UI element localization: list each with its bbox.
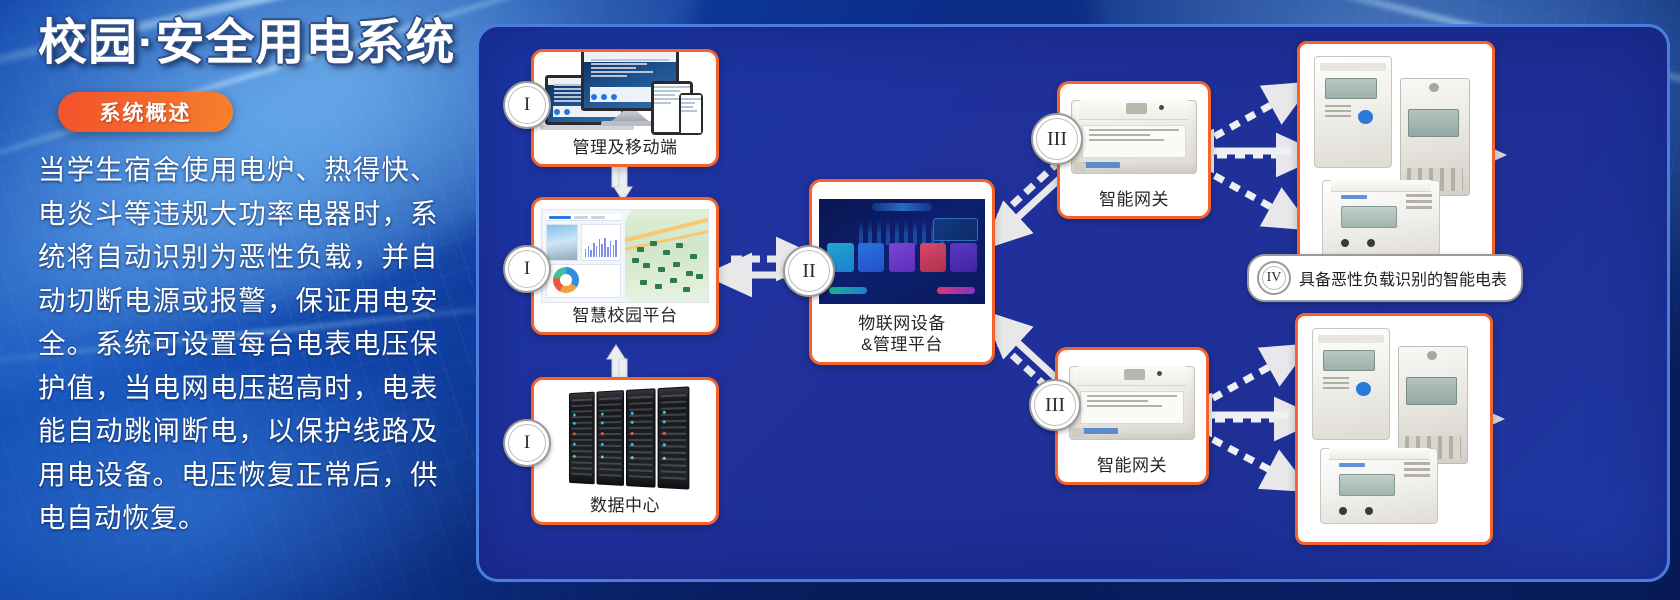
section-badge-label: 系统概述 [100,97,192,127]
diagram-frame: 管理及移动端 I [476,24,1670,582]
smart-meter-group-bottom [1298,316,1490,542]
campus-platform-dashboard-illustration [534,200,716,305]
iot-platform-dashboard-illustration [812,182,992,313]
node-campus-platform[interactable]: 智慧校园平台 [531,197,719,335]
node-admin-mobile[interactable]: 管理及移动端 [531,49,719,167]
meter-din-rail-top [1322,180,1440,256]
node-iot-platform-label-line1: 物联网设备 [812,313,992,334]
left-text-panel: 校园·安全用电系统 系统概述 当学生宿舍使用电炉、热得快、电炎斗等违规大功率电器… [0,0,470,600]
node-gateway-top-label: 智能网关 [1060,189,1208,216]
diagram-canvas: 管理及移动端 I [479,27,1667,579]
numeral-badge-data-center: I [503,419,551,467]
page-title: 校园·安全用电系统 [38,18,458,69]
meter-single-phase-top [1314,56,1392,168]
node-admin-mobile-label: 管理及移动端 [534,137,716,164]
numeral-badge-iot-platform: II [783,245,835,297]
poster-root: 校园·安全用电系统 系统概述 当学生宿舍使用电炉、热得快、电炎斗等违规大功率电器… [0,0,1680,600]
node-data-center-label: 数据中心 [534,495,716,522]
node-iot-platform-label-line2: &管理平台 [812,334,992,362]
numeral-badge-admin-mobile: I [503,81,551,129]
numeral-badge-gateway-bottom: III [1029,379,1081,431]
numeral-badge-gateway-top: III [1031,113,1083,165]
section-badge: 系统概述 [58,92,233,132]
callout-smart-meter: IV 具备恶性负载识别的智能电表 [1247,254,1523,302]
meter-three-phase-bottom [1398,346,1468,464]
overview-paragraph: 当学生宿舍使用电炉、热得快、电炎斗等违规大功率电器时，系统将自动识别为恶性负载，… [38,148,438,540]
callout-smart-meter-label: 具备恶性负载识别的智能电表 [1299,266,1507,290]
meter-single-phase-bottom [1312,328,1390,440]
numeral-badge-callout: IV [1257,261,1291,295]
meter-din-rail-bottom [1320,448,1438,524]
node-data-center[interactable]: 数据中心 [531,377,719,525]
node-iot-platform[interactable]: 物联网设备 &管理平台 [809,179,995,365]
panel-smart-meters-top [1297,41,1495,275]
data-center-rack-illustration [534,380,716,495]
panel-smart-meters-bottom [1295,313,1493,545]
meter-three-phase-top [1400,78,1470,196]
node-campus-platform-label: 智慧校园平台 [534,305,716,332]
node-gateway-bottom-label: 智能网关 [1058,455,1206,482]
numeral-badge-campus-platform: I [503,245,551,293]
smart-meter-group-top [1300,44,1492,272]
admin-mobile-devices-illustration [534,52,716,137]
